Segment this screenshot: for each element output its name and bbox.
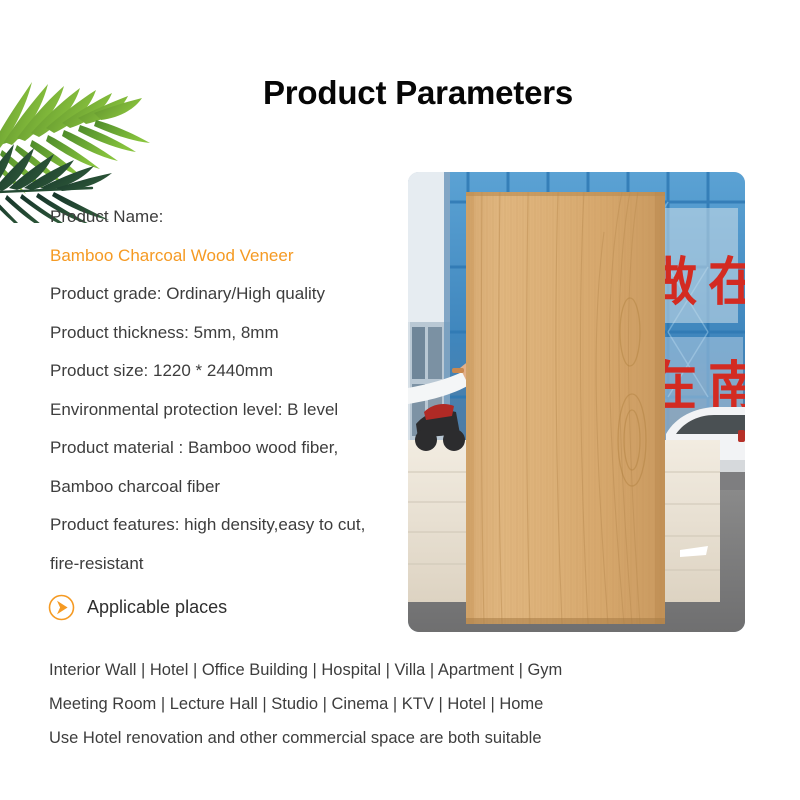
spec-line: Bamboo charcoal fiber	[50, 468, 410, 507]
spec-line: fire-resistant	[50, 545, 410, 584]
spec-line: Product features: high density,easy to c…	[50, 506, 410, 545]
svg-text:在: 在	[708, 253, 745, 313]
circled-arrow-right-icon	[48, 594, 75, 621]
places-line: Use Hotel renovation and other commercia…	[49, 721, 749, 755]
applicable-places-heading: Applicable places	[48, 594, 227, 621]
spec-line: Product thickness: 5mm, 8mm	[50, 314, 410, 353]
spec-line: Product grade: Ordinary/High quality	[50, 275, 410, 314]
product-parameters-page: Product Parameters Product Name: Bamboo …	[0, 0, 800, 800]
product-photo: 做 在 在 南	[408, 172, 745, 632]
spec-line: Product Name:	[50, 198, 410, 237]
spec-line: Product size: 1220 * 2440mm	[50, 352, 410, 391]
places-line: Interior Wall | Hotel | Office Building …	[49, 653, 749, 687]
product-spec-list: Product Name: Bamboo Charcoal Wood Venee…	[50, 198, 410, 583]
palm-leaf-decoration	[0, 38, 154, 223]
spec-line: Environmental protection level: B level	[50, 391, 410, 430]
spec-line: Product material : Bamboo wood fiber,	[50, 429, 410, 468]
places-line: Meeting Room | Lecture Hall | Studio | C…	[49, 687, 749, 721]
applicable-places-label: Applicable places	[87, 594, 227, 621]
page-title: Product Parameters	[0, 74, 800, 112]
product-name-value: Bamboo Charcoal Wood Veneer	[50, 237, 410, 276]
applicable-places-list: Interior Wall | Hotel | Office Building …	[49, 653, 749, 755]
